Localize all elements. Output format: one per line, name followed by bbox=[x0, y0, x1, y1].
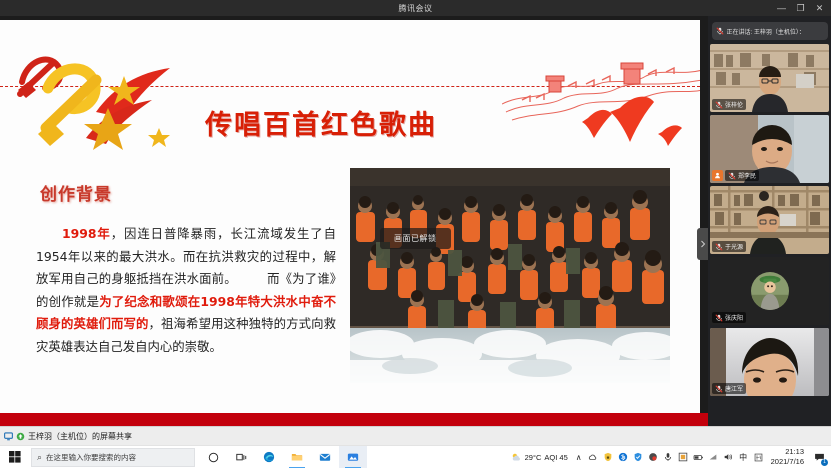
cortana-icon[interactable] bbox=[199, 446, 227, 468]
participant-video-rail: 正在讲话: 王梓羽（主机位）： bbox=[708, 16, 831, 426]
mic-muted-icon bbox=[715, 314, 723, 322]
dove-shape bbox=[582, 97, 682, 146]
collapse-video-rail-button[interactable] bbox=[697, 228, 708, 260]
host-badge bbox=[712, 170, 723, 181]
great-wall-illustration bbox=[502, 42, 700, 154]
minimize-button[interactable]: — bbox=[772, 0, 791, 16]
active-speaker-label: 正在讲话: 王梓羽（主机位）： bbox=[727, 27, 805, 36]
monitor-icon bbox=[4, 432, 13, 441]
close-button[interactable]: ✕ bbox=[810, 0, 829, 16]
window-controls: — ❐ ✕ bbox=[772, 0, 829, 16]
weather-temperature: 29°C bbox=[525, 453, 542, 462]
clock-date: 2021/7/16 bbox=[771, 457, 804, 467]
notification-count: 1 bbox=[821, 459, 828, 466]
slide-title: 传唱百首红色歌曲 bbox=[205, 103, 437, 142]
antivirus-shield-icon[interactable] bbox=[631, 446, 646, 468]
microphone-icon[interactable] bbox=[661, 446, 676, 468]
task-view-icon[interactable] bbox=[227, 446, 255, 468]
title-bar: 腾讯会议 — ❐ ✕ bbox=[0, 0, 831, 16]
system-tray: 29°C AQI 45 ∧ bbox=[507, 446, 831, 468]
participant-name-badge: 唐江军 bbox=[712, 383, 746, 394]
share-status-text: 王梓羽（主机位）的屏幕共享 bbox=[28, 431, 132, 442]
year-highlight: 1998年 bbox=[62, 226, 111, 241]
battery-icon[interactable] bbox=[691, 446, 706, 468]
windows-taskbar: ⌕ 在这里输入你要搜索的内容 bbox=[0, 445, 831, 468]
mic-muted-icon bbox=[715, 243, 723, 251]
avatar bbox=[751, 272, 789, 310]
party-emblem-icon bbox=[12, 42, 177, 152]
screen-unlocked-toast: 画面已解锁 bbox=[380, 228, 451, 249]
ime-options-icon[interactable] bbox=[751, 446, 766, 468]
mic-muted-icon bbox=[715, 101, 723, 109]
search-input[interactable]: ⌕ 在这里输入你要搜索的内容 bbox=[31, 448, 195, 467]
participant-name-badge: 张庆阳 bbox=[712, 312, 746, 323]
browser-guard-icon[interactable] bbox=[646, 446, 661, 468]
taskbar-clock[interactable]: 21:13 2021/7/16 bbox=[766, 447, 809, 467]
video-tile-2[interactable]: 于光源 bbox=[710, 186, 829, 254]
volume-icon[interactable] bbox=[721, 446, 736, 468]
network-icon[interactable] bbox=[706, 446, 721, 468]
participant-name-badge: 张梓伦 bbox=[712, 99, 746, 110]
tray-overflow-chevron-icon[interactable]: ∧ bbox=[572, 453, 586, 462]
participant-name: 郑李民 bbox=[738, 171, 756, 180]
restore-button[interactable]: ❐ bbox=[791, 0, 810, 16]
participant-name: 唐江军 bbox=[725, 384, 743, 393]
participant-name: 张梓伦 bbox=[725, 100, 743, 109]
weather-aqi: AQI 45 bbox=[544, 453, 567, 462]
host-person-icon bbox=[714, 172, 721, 179]
share-screen-icon bbox=[16, 432, 25, 441]
bluetooth-icon[interactable] bbox=[616, 446, 631, 468]
windows-logo-icon bbox=[9, 451, 21, 463]
screenshot-tool-icon[interactable] bbox=[676, 446, 691, 468]
participant-name: 张庆阳 bbox=[725, 313, 743, 322]
weather-widget[interactable]: 29°C AQI 45 bbox=[507, 452, 572, 463]
section-heading: 创作背景 bbox=[40, 180, 112, 205]
mic-muted-icon bbox=[715, 385, 723, 393]
edge-icon[interactable] bbox=[255, 446, 283, 468]
tencent-meeting-window: 腾讯会议 — ❐ ✕ bbox=[0, 0, 831, 468]
participant-name-badge: 郑李民 bbox=[725, 170, 759, 181]
mail-icon[interactable] bbox=[311, 446, 339, 468]
slide-body-text: 1998年，因连日普降暴雨，长江流域发生了自1954年以来的最大洪水。而在抗洪救… bbox=[36, 223, 336, 359]
screen-share-status-bar: 王梓羽（主机位）的屏幕共享 bbox=[0, 426, 831, 445]
partly-cloudy-icon bbox=[511, 452, 522, 463]
mic-muted-icon bbox=[728, 172, 736, 180]
shared-screen-stage[interactable]: 传唱百首红色歌曲 创作背景 1998年，因连日普降暴雨，长江流域发生了自1954… bbox=[0, 16, 708, 426]
presentation-slide: 传唱百首红色歌曲 创作背景 1998年，因连日普降暴雨，长江流域发生了自1954… bbox=[0, 20, 700, 413]
video-tile-4[interactable]: 唐江军 bbox=[710, 328, 829, 396]
participant-name-badge: 于光源 bbox=[712, 241, 746, 252]
start-button[interactable] bbox=[0, 446, 30, 468]
file-explorer-icon[interactable] bbox=[283, 446, 311, 468]
search-placeholder-text: 在这里输入你要搜索的内容 bbox=[46, 452, 136, 463]
security-shield-icon[interactable] bbox=[601, 446, 616, 468]
chevron-right-icon bbox=[700, 240, 706, 248]
flood-rescue-photo: 画面已解锁 bbox=[350, 168, 670, 383]
video-tile-1[interactable]: 郑李民 bbox=[710, 115, 829, 183]
tencent-meeting-icon[interactable] bbox=[339, 446, 367, 468]
window-title: 腾讯会议 bbox=[399, 3, 433, 14]
taskbar-icons bbox=[199, 446, 367, 468]
participant-name: 于光源 bbox=[725, 242, 743, 251]
avatar-image bbox=[751, 272, 789, 310]
notification-center-button[interactable]: 1 bbox=[809, 446, 829, 468]
mic-muted-icon bbox=[716, 27, 724, 35]
onedrive-icon[interactable] bbox=[586, 446, 601, 468]
video-tile-0[interactable]: 张梓伦 bbox=[710, 44, 829, 112]
ime-chinese-icon[interactable]: 中 bbox=[736, 446, 751, 468]
clock-time: 21:13 bbox=[785, 447, 804, 457]
video-tile-3[interactable]: 张庆阳 bbox=[710, 257, 829, 325]
search-icon: ⌕ bbox=[37, 452, 42, 463]
active-speaker-banner: 正在讲话: 王梓羽（主机位）： bbox=[712, 22, 828, 40]
